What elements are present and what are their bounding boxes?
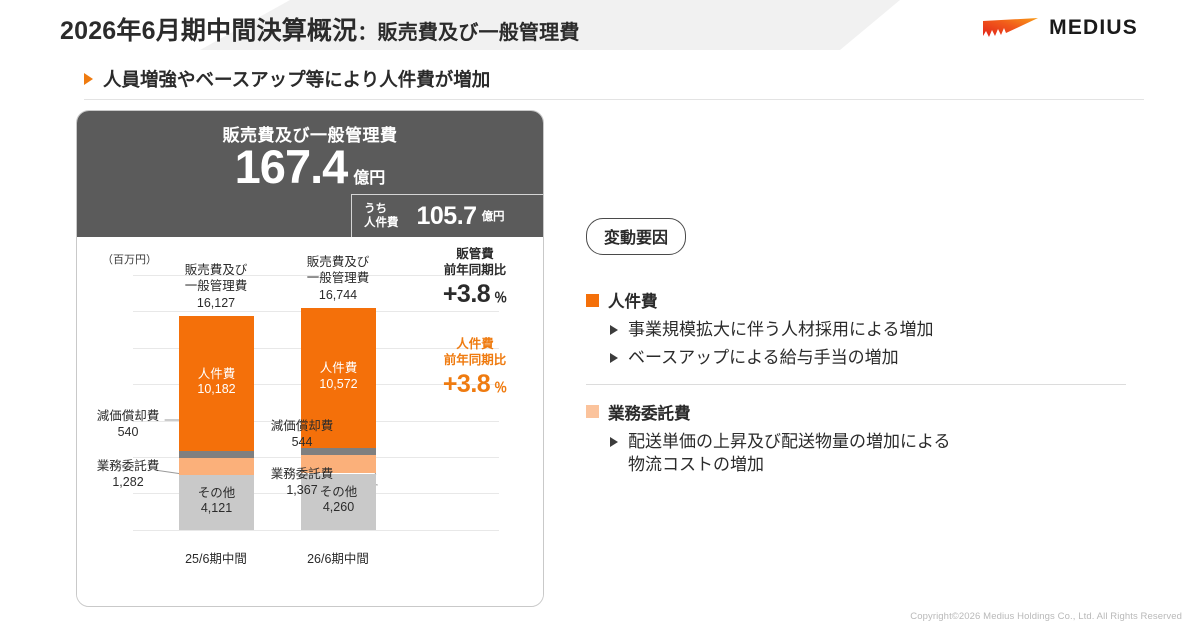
factor-group: 業務委託費配送単価の上昇及び配送物量の増加による 物流コストの増加 (586, 400, 1126, 477)
bar-callout-業務委託費: 業務委託費 1,282 (85, 459, 171, 490)
factor-item-text: 配送単価の上昇及び配送物量の増加による 物流コストの増加 (628, 430, 951, 477)
yoy-label: 販管費 前年同期比 (417, 247, 533, 278)
triangle-right-icon (610, 353, 618, 363)
x-axis-tick: 26/6期中間 (263, 548, 413, 567)
yoy-value: +3.8％ (417, 370, 533, 399)
copyright: Copyright©2026 Medius Holdings Co., Ltd.… (910, 611, 1182, 622)
headline-unit: 億円 (353, 170, 385, 187)
medius-flag-mark-icon (982, 17, 1040, 39)
yoy-annotation: 販管費 前年同期比+3.8％ (417, 247, 533, 309)
factor-group-label: 業務委託費 (608, 400, 691, 424)
yoy-value: +3.8％ (417, 280, 533, 309)
page-title-main: 2026年6月期中間決算概況 (60, 17, 357, 45)
logo: MEDIUS (982, 16, 1138, 40)
factor-group-heading: 人件費 (586, 288, 1126, 312)
bar-callout-減価償却費: 減価償却費 540 (85, 409, 171, 440)
factor-group-heading: 業務委託費 (586, 400, 1126, 424)
chart-card: 販売費及び一般管理費 167.4億円 うち 人件費 105.7 億円 （百万円）… (76, 110, 544, 607)
logo-wordmark: MEDIUS (1049, 16, 1138, 40)
yoy-label: 人件費 前年同期比 (417, 337, 533, 368)
factors-pill: 変動要因 (586, 218, 686, 255)
headline-value: 167.4 (235, 140, 348, 193)
sub-metric-label: うち 人件費 (364, 202, 399, 230)
panel-divider (586, 384, 1126, 385)
factor-item: ベースアップによる給与手当の増加 (610, 346, 1126, 369)
yoy-unit: ％ (494, 380, 507, 395)
square-marker-icon (586, 405, 599, 418)
bar-total-label: 販売費及び 一般管理費 16,744 (263, 254, 413, 303)
sub-metric-value: 105.7 (417, 202, 477, 231)
chart-card-header: 販売費及び一般管理費 167.4億円 うち 人件費 105.7 億円 (77, 111, 543, 237)
square-marker-icon (586, 294, 599, 307)
bar-segment-業務委託費 (179, 458, 254, 475)
factor-group-label: 人件費 (608, 288, 658, 312)
factor-item-text: ベースアップによる給与手当の増加 (628, 346, 899, 369)
triangle-right-icon (610, 325, 618, 335)
triangle-right-icon (610, 437, 618, 447)
factor-item-text: 事業規模拡大に伴う人材採用による増加 (628, 318, 934, 341)
yoy-annotation: 人件費 前年同期比+3.8％ (417, 337, 533, 399)
bar-callout-減価償却費: 減価償却費 544 (259, 419, 345, 450)
lead-bullet-text: 人員増強やベースアップ等により人件費が増加 (103, 66, 490, 92)
sub-metric-unit: 億円 (482, 208, 505, 224)
page-title-separator: ： (357, 22, 377, 44)
bar-segment-label: 人件費 10,572 (301, 361, 376, 392)
bar-callout-業務委託費: 業務委託費 1,367 (259, 467, 345, 498)
chart-bar: 人件費 10,182その他 4,121 (179, 316, 254, 530)
factor-item: 事業規模拡大に伴う人材採用による増加 (610, 318, 1126, 341)
yoy-unit: ％ (494, 290, 507, 305)
lead-bullet: 人員増強やベースアップ等により人件費が増加 (84, 66, 1144, 100)
bar-segment-label: その他 4,121 (179, 486, 254, 517)
page-title-sub: 販売費及び一般管理費 (378, 22, 580, 44)
bar-segment-減価償却費 (179, 451, 254, 458)
bar-segment-その他: その他 4,121 (179, 475, 254, 530)
bar-segment-人件費: 人件費 10,182 (179, 316, 254, 451)
factor-group: 人件費事業規模拡大に伴う人材採用による増加ベースアップによる給与手当の増加 (586, 288, 1126, 370)
triangle-right-icon (84, 73, 93, 85)
factor-item: 配送単価の上昇及び配送物量の増加による 物流コストの増加 (610, 430, 1126, 477)
factors-list: 人件費事業規模拡大に伴う人材採用による増加ベースアップによる給与手当の増加業務委… (586, 288, 1126, 483)
page-title: 2026年6月期中間決算概況：販売費及び一般管理費 (60, 11, 580, 47)
sub-metric-box: うち 人件費 105.7 億円 (351, 194, 543, 237)
slide: 2026年6月期中間決算概況：販売費及び一般管理費 MEDIUS 人員増強やベー… (0, 0, 1200, 630)
bar-segment-label: 人件費 10,182 (179, 367, 254, 398)
headline-value-row: 167.4億円 (77, 137, 543, 197)
chart-plot: （百万円） 人件費 10,182その他 4,121販売費及び 一般管理費 16,… (77, 237, 543, 607)
